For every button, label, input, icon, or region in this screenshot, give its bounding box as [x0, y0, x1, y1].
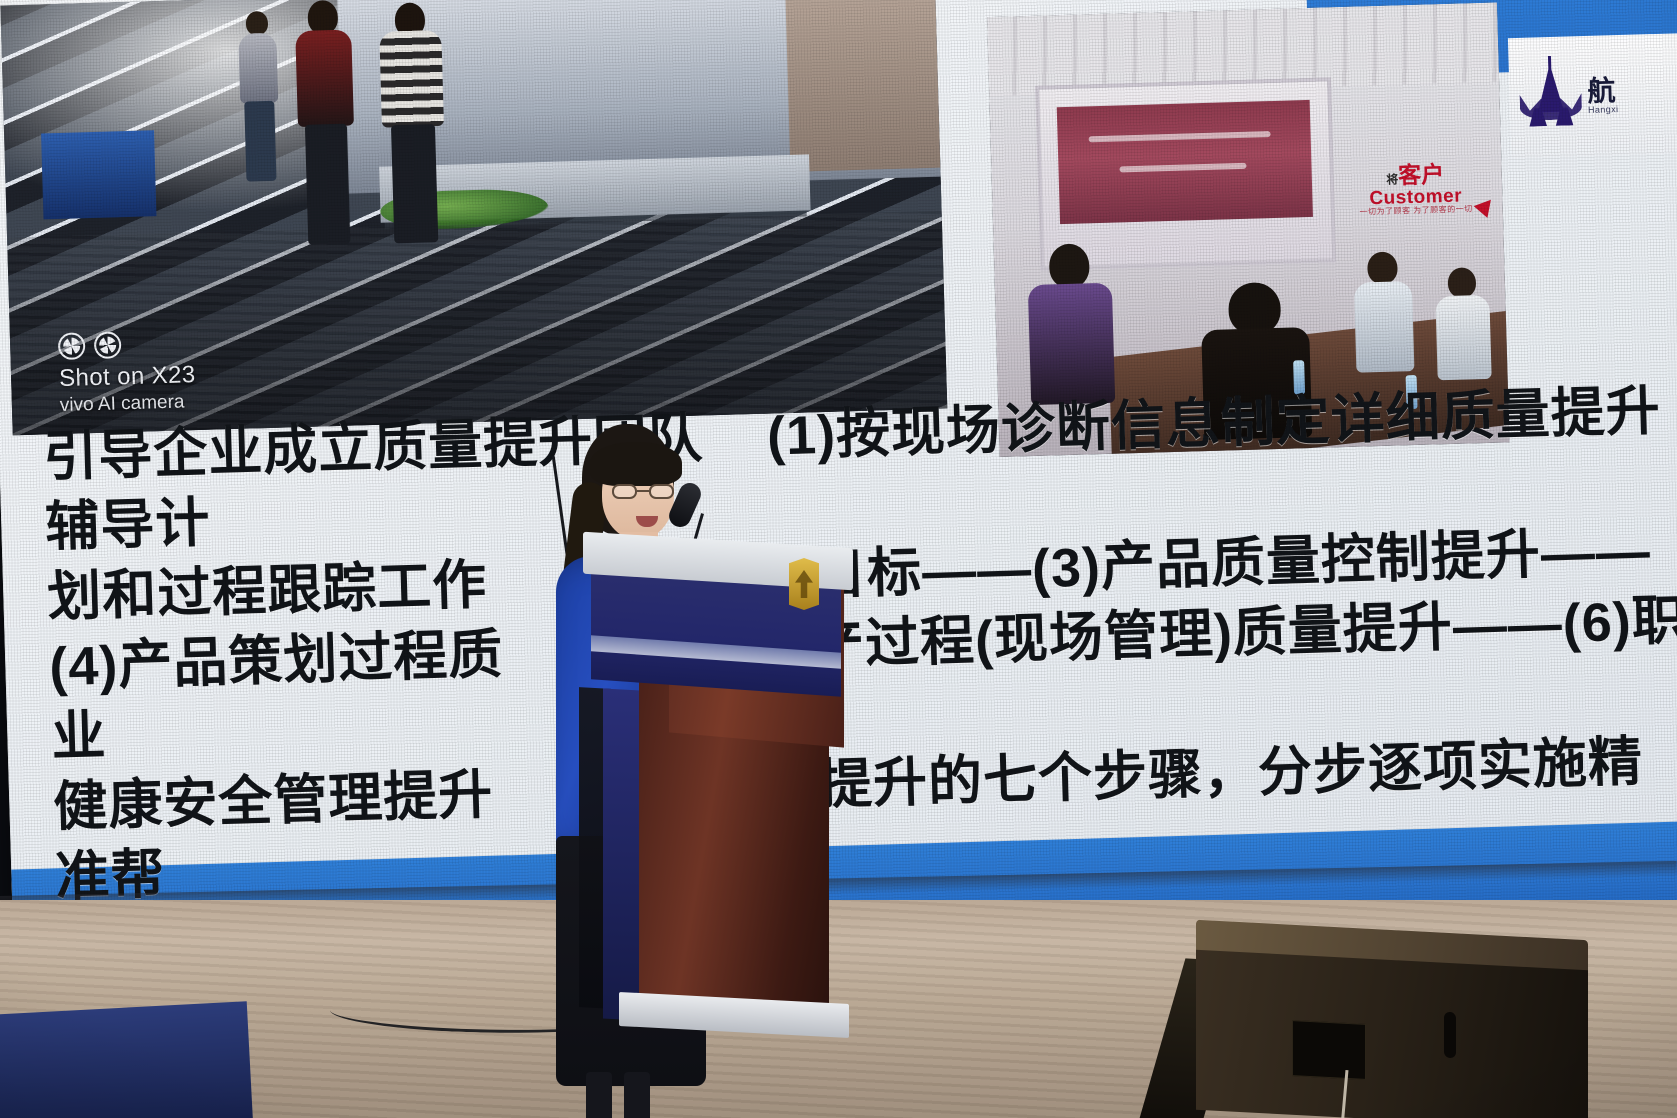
- attendee-head: [1367, 252, 1398, 285]
- slide-line-1: [1088, 131, 1270, 142]
- worker-torso: [379, 30, 444, 128]
- worker-legs: [391, 124, 438, 243]
- warehouse-side-wall: [785, 0, 940, 172]
- leg-left: [586, 1072, 612, 1118]
- attendee-head: [1048, 243, 1089, 288]
- fringe: [590, 442, 682, 486]
- warehouse-worker-1: [290, 0, 362, 277]
- monitor-handle-slot: [1444, 1012, 1456, 1059]
- attendee-torso: [1027, 283, 1114, 405]
- stage-scene: Shot on X23 vivo AI camera 将客户: [0, 0, 1677, 1118]
- stage-monitor-speaker: [1162, 930, 1602, 1118]
- attendee-head: [1447, 267, 1476, 298]
- watermark-line-2: vivo AI camera: [60, 390, 197, 418]
- projector-screen: [1035, 78, 1336, 271]
- worker-torso: [295, 30, 354, 128]
- lectern-podium: [583, 540, 853, 1040]
- warehouse-worker-3: [234, 10, 283, 192]
- stage-riser-left: [0, 1001, 253, 1118]
- vivo-watermark: Shot on X23 vivo AI camera: [58, 329, 197, 418]
- company-logo-plate: 航 Hangxi: [1508, 33, 1677, 158]
- logo-wordmark: 航 Hangxi: [1587, 76, 1619, 116]
- attendee-torso: [1435, 295, 1491, 381]
- slide-photo-warehouse: Shot on X23 vivo AI camera: [0, 0, 947, 435]
- worker-torso: [238, 33, 278, 104]
- attendee-torso: [1354, 281, 1415, 373]
- lens-icon: [94, 332, 122, 360]
- glasses-icon: [612, 484, 674, 500]
- tower-rocket-logo-icon: [1519, 63, 1583, 131]
- poster-prefix-cn: 将: [1386, 173, 1398, 187]
- worker-legs: [305, 124, 350, 245]
- warehouse-worker-2: [374, 1, 452, 269]
- podium-gold-emblem-icon: [789, 558, 819, 610]
- blue-bin: [41, 130, 156, 219]
- camera-icons: [58, 329, 195, 360]
- poster-subline: 一切为了顾客 为了顾客的一切: [1340, 205, 1493, 218]
- monitor-connector-panel: [1292, 1020, 1366, 1080]
- worker-legs: [244, 101, 276, 182]
- leg-right: [624, 1072, 650, 1118]
- aperture-icon: [58, 333, 86, 361]
- slide-line-2: [1119, 163, 1246, 173]
- logo-name-en: Hangxi: [1588, 105, 1619, 115]
- worker-head: [245, 11, 268, 36]
- logo-name-cn: 航: [1587, 76, 1618, 106]
- projected-slide: [1057, 100, 1314, 224]
- poster-keyword-cn: 客户: [1398, 161, 1445, 188]
- watermark-line-1: Shot on X23: [59, 360, 196, 394]
